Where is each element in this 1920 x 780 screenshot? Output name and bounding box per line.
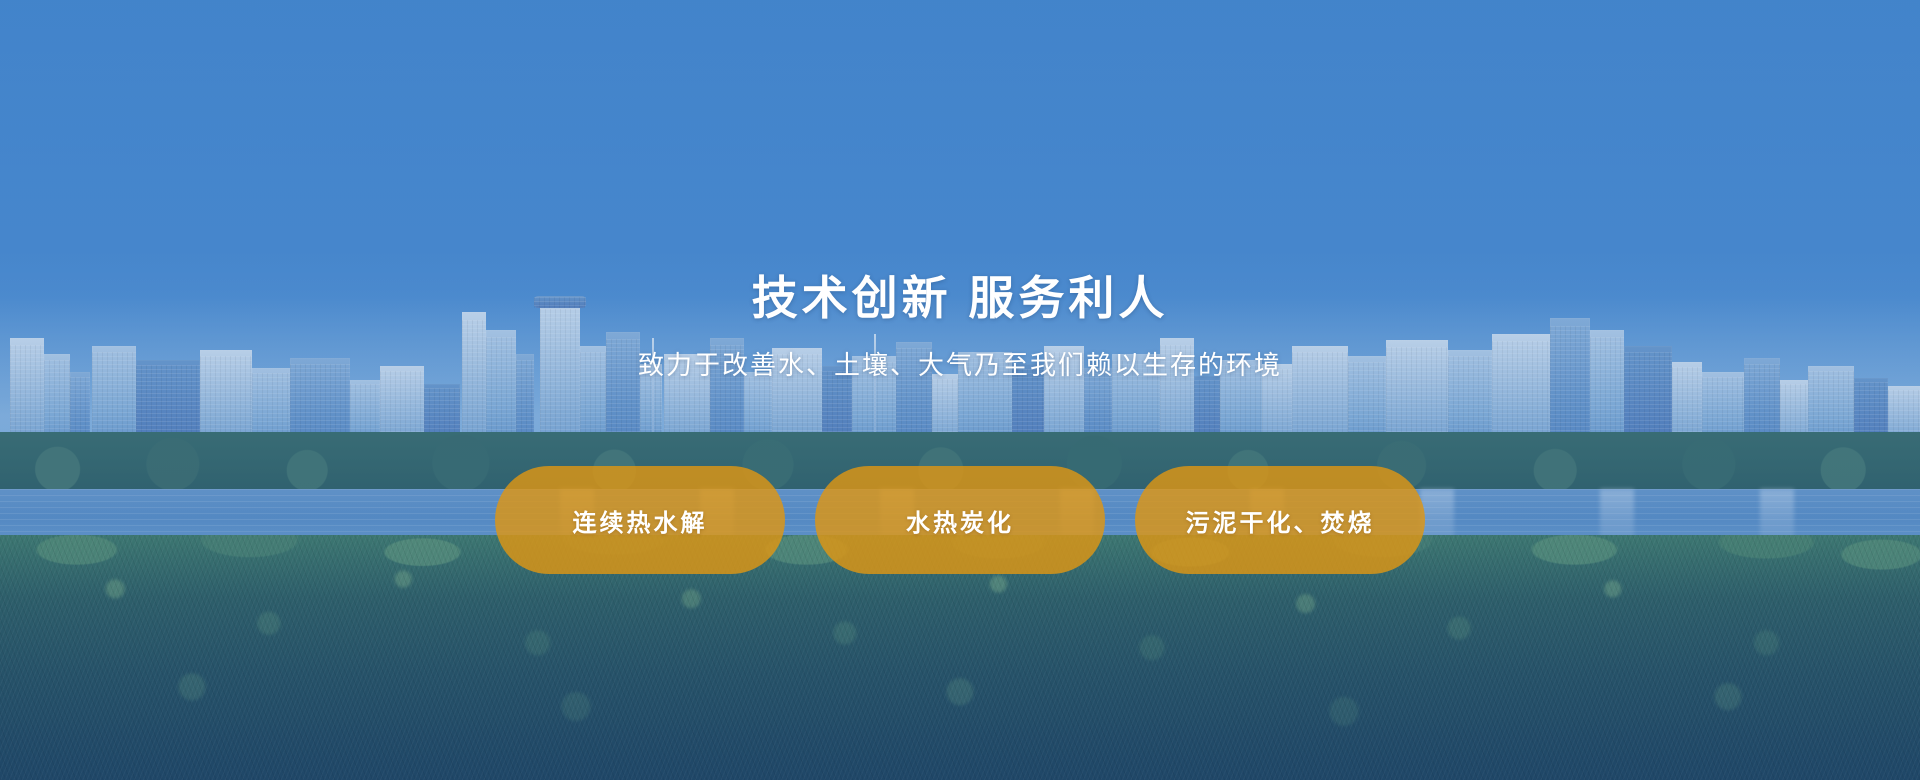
banner-headline: 技术创新 服务利人 — [752, 262, 1169, 328]
service-pill-hydrothermal-carbonization[interactable]: 水热炭化 — [815, 466, 1105, 574]
hero-banner: 技术创新 服务利人 致力于改善水、土壤、大气乃至我们赖以生存的环境 连续热水解 … — [0, 0, 1920, 780]
service-pill-group: 连续热水解 水热炭化 污泥干化、焚烧 — [495, 466, 1425, 574]
service-pill-continuous-thermal-hydrolysis[interactable]: 连续热水解 — [495, 466, 785, 574]
banner-subheadline: 致力于改善水、土壤、大气乃至我们赖以生存的环境 — [638, 345, 1282, 382]
service-pill-sludge-drying-incineration[interactable]: 污泥干化、焚烧 — [1135, 466, 1425, 574]
banner-content: 技术创新 服务利人 致力于改善水、土壤、大气乃至我们赖以生存的环境 连续热水解 … — [0, 0, 1920, 780]
